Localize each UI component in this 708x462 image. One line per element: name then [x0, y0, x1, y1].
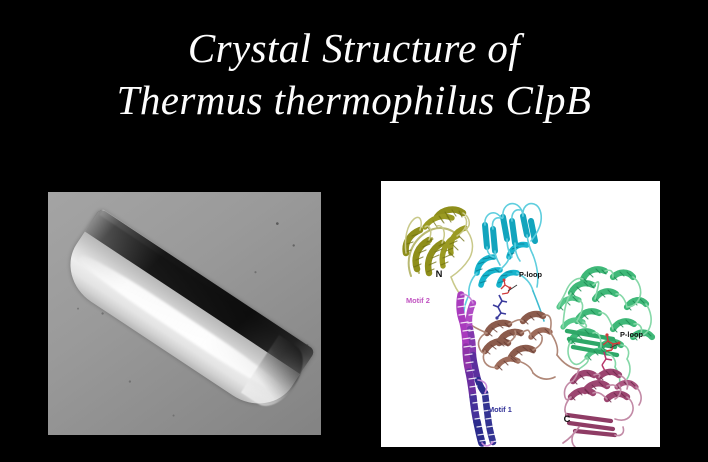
label-n-terminus: N [436, 268, 443, 279]
crystal-photo-panel [48, 192, 321, 435]
label-p-loop-d2: P-loop [620, 330, 643, 339]
label-motif-1: Motif 1 [488, 405, 512, 414]
structure-diagram-panel: N Motif 2 Motif 1 P-loop P-loop C [381, 181, 660, 447]
label-motif-2: Motif 2 [406, 296, 430, 305]
title-line-1: Crystal Structure of [0, 22, 708, 74]
clpb-ribbon-diagram: N Motif 2 Motif 1 P-loop P-loop C [381, 181, 660, 447]
label-c-terminus: C [564, 413, 571, 424]
title-line-2: Thermus thermophilus ClpB [0, 74, 708, 126]
protein-crystal-micrograph [48, 192, 321, 435]
label-p-loop-d1: P-loop [519, 270, 542, 279]
page-title: Crystal Structure of Thermus thermophilu… [0, 22, 708, 126]
crystal-rod-shape [54, 208, 315, 420]
diagram-background [381, 181, 660, 447]
slide-canvas: Crystal Structure of Thermus thermophilu… [0, 0, 708, 462]
